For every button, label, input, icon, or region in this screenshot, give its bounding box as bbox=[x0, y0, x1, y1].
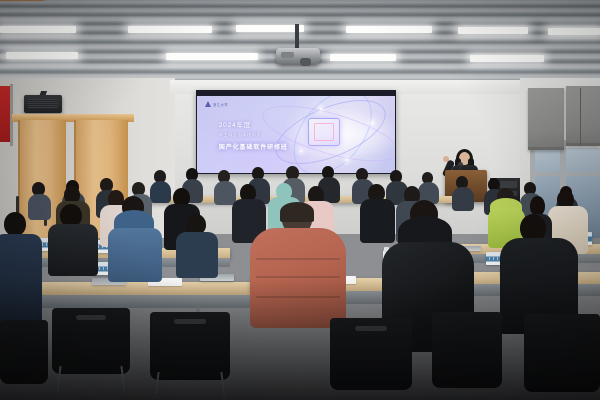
person-torso bbox=[28, 194, 51, 220]
chair-handle-slot bbox=[355, 326, 387, 331]
person-torso bbox=[214, 181, 236, 205]
slide-logo-text: 浙江大学 bbox=[213, 102, 228, 107]
logo-mark-icon bbox=[205, 101, 211, 107]
sparkle-icon bbox=[346, 159, 348, 161]
ceiling-light bbox=[330, 54, 396, 61]
ceiling-light bbox=[166, 53, 258, 60]
stacking-chair[interactable] bbox=[150, 312, 230, 380]
slide-title: 国产化基础软件研修班 bbox=[219, 142, 310, 151]
person-torso bbox=[0, 234, 42, 324]
blind-hem bbox=[528, 147, 564, 150]
person-hair bbox=[280, 202, 314, 222]
person-torso bbox=[250, 228, 346, 328]
projector-mount bbox=[295, 24, 299, 50]
ceiling-light bbox=[128, 26, 212, 33]
presenter-hand bbox=[443, 156, 449, 162]
ceiling-light bbox=[458, 27, 528, 34]
ceiling-light bbox=[470, 55, 544, 62]
ceiling-light bbox=[6, 52, 78, 59]
slide-subtitle: 新工科全国高校师资 bbox=[219, 132, 310, 138]
wall-speaker bbox=[24, 95, 62, 113]
puffer-seam bbox=[256, 296, 340, 298]
blind-hem bbox=[566, 143, 600, 146]
window-transom bbox=[530, 172, 600, 176]
lecture-room-photo: 浙江大学 2024年度 新工科全国高校师资 国产化基础软件研修班 bbox=[0, 0, 600, 400]
projected-slide: 浙江大学 2024年度 新工科全国高校师资 国产化基础软件研修班 bbox=[197, 96, 395, 173]
chair-handle-slot bbox=[76, 315, 106, 320]
cpu-chip-icon bbox=[308, 118, 340, 146]
projector-vent bbox=[281, 52, 294, 58]
blind-cord[interactable] bbox=[580, 88, 581, 146]
projection-screen: 浙江大学 2024年度 新工科全国高校师资 国产化基础软件研修班 bbox=[196, 90, 396, 174]
podium-top bbox=[0, 0, 45, 1]
ceiling-light bbox=[236, 25, 304, 32]
person-torso bbox=[108, 228, 162, 282]
ceiling-light bbox=[0, 26, 76, 33]
stacking-chair[interactable] bbox=[330, 318, 412, 390]
person-torso bbox=[452, 187, 474, 211]
person-head bbox=[530, 196, 545, 216]
stacking-chair[interactable] bbox=[432, 312, 502, 388]
slide-logo: 浙江大学 bbox=[205, 101, 228, 107]
chair-handle-slot bbox=[174, 319, 206, 324]
puffer-seam bbox=[256, 258, 340, 260]
ceiling-light bbox=[346, 26, 432, 33]
window-blind[interactable] bbox=[566, 86, 600, 146]
person-torso bbox=[48, 224, 98, 276]
stacking-chair[interactable] bbox=[52, 308, 130, 374]
window-blind[interactable] bbox=[528, 88, 564, 150]
stacking-chair[interactable] bbox=[0, 320, 48, 384]
person-torso bbox=[150, 181, 171, 203]
person-head bbox=[4, 212, 26, 236]
slide-text-block: 2024年度 新工科全国高校师资 国产化基础软件研修班 bbox=[219, 119, 310, 151]
ceiling-light bbox=[548, 28, 600, 35]
person-torso bbox=[176, 232, 218, 278]
person-torso bbox=[360, 199, 395, 243]
slide-year: 2024年度 bbox=[219, 119, 310, 129]
puffer-seam bbox=[256, 276, 340, 278]
stacking-chair[interactable] bbox=[524, 314, 600, 392]
projector-lens bbox=[300, 58, 311, 66]
